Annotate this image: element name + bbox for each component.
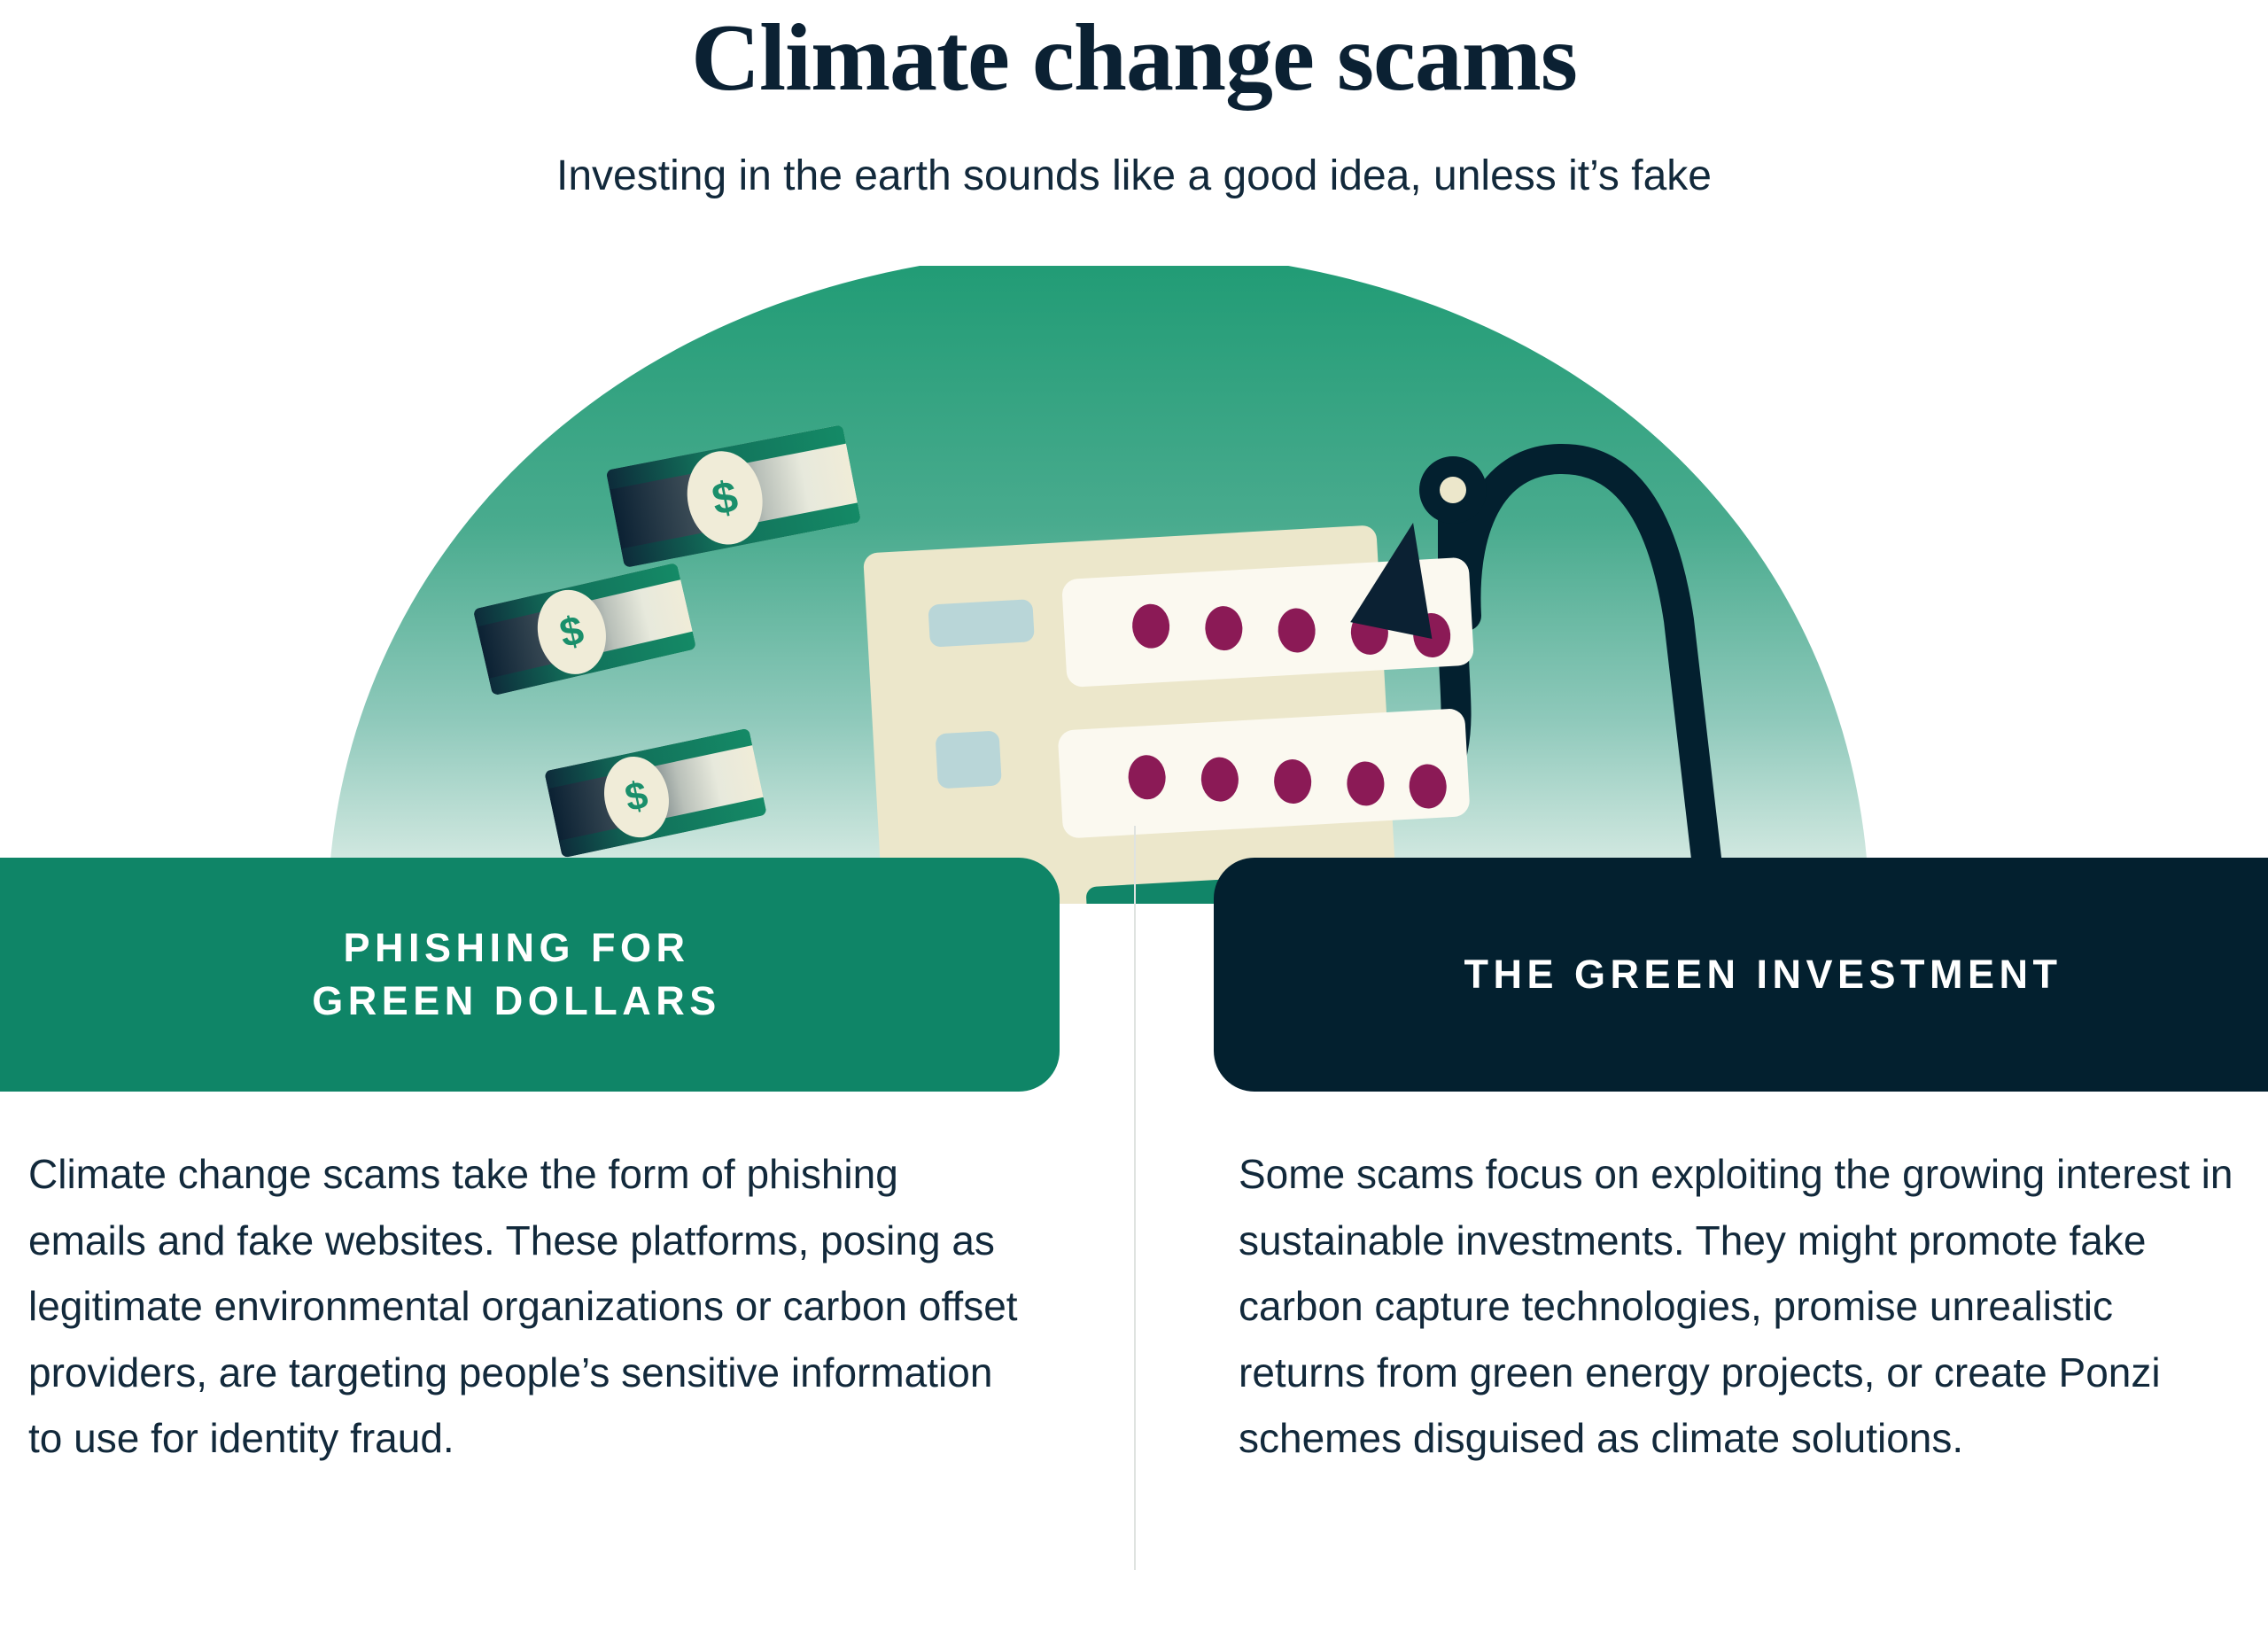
password-dots [1131,587,1452,674]
dollar-sign-icon: $ [621,773,651,820]
page-subtitle: Investing in the earth sounds like a goo… [0,151,2268,202]
banknote: $ [606,424,861,568]
panel-banner-phishing[interactable]: PHISHING FORGREEN DOLLARS [0,858,1060,1092]
hero-illustration: $ $ $ [0,266,2268,904]
fake-login-card [863,520,1499,904]
panel-body-investment: Some scams focus on exploiting the growi… [1239,1141,2249,1472]
password-dots [1127,738,1448,825]
panel-body-text-investment: Some scams focus on exploiting the growi… [1239,1141,2249,1472]
banner-label-phishing: PHISHING FORGREEN DOLLARS [179,921,721,1028]
fish-hook-eye-icon [1419,456,1487,524]
panel-body-phishing: Climate change scams take the form of ph… [28,1141,1021,1472]
green-blob-backdrop [328,266,1869,904]
column-divider [1134,826,1136,1570]
fish-hook-icon [1465,459,1759,904]
hook-barb-icon [1345,522,1432,643]
infographic-page: Climate change scams Investing in the ea… [0,0,2268,1648]
dollar-sign-icon: $ [555,606,588,656]
password-field [1058,708,1471,838]
fish-hook-barb-curve [1369,487,1456,789]
panel-body-text-phishing: Climate change scams take the form of ph… [28,1141,1021,1472]
banknote: $ [473,563,696,696]
panel-banner-investment[interactable]: THE GREEN INVESTMENT [1214,858,2268,1092]
banknote: $ [544,728,767,859]
form-label-pill [928,599,1034,648]
password-field [1061,557,1474,688]
dollar-sign-icon: $ [708,471,742,525]
banner-label-investment: THE GREEN INVESTMENT [1464,948,2177,1001]
page-title: Climate change scams [0,7,2268,111]
form-label-pill [936,730,1002,789]
